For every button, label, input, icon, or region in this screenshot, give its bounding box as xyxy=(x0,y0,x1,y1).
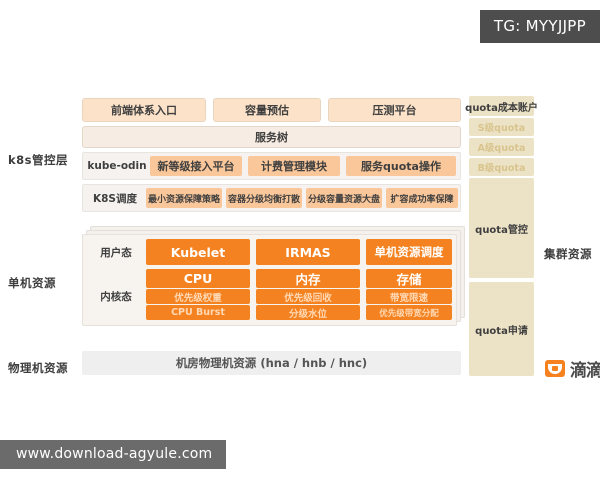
quota-apply[interactable]: quota申请 xyxy=(469,282,534,376)
box-irmas[interactable]: IRMAS xyxy=(256,239,360,265)
box-cpu-priority-weight[interactable]: 优先级权重 xyxy=(146,289,250,304)
quota-control[interactable]: quota管控 xyxy=(469,178,534,278)
screenshot-root: TG: MYYJJPP k8s管控层 单机资源 物理机资源 集群资源 前端体系入… xyxy=(0,0,600,480)
quota-level-s[interactable]: S级quota xyxy=(469,118,534,136)
box-stress-test-platform[interactable]: 压测平台 xyxy=(328,98,461,122)
label-user-mode: 用户态 xyxy=(90,239,142,265)
didi-logo-text: 滴滴 xyxy=(570,356,600,381)
box-kubelet[interactable]: Kubelet xyxy=(146,239,250,265)
box-storage-bandwidth-throttle[interactable]: 带宽限速 xyxy=(366,289,452,304)
label-kernel-mode: 内核态 xyxy=(90,271,142,321)
watermark-banner: www.download-agyule.com xyxy=(0,440,226,469)
box-service-tree[interactable]: 服务树 xyxy=(82,126,461,148)
cluster-resource-label: 集群资源 xyxy=(544,246,592,262)
box-memory-tiered-watermark[interactable]: 分级水位 xyxy=(256,305,360,320)
box-single-machine-resource-scheduling[interactable]: 单机资源调度 xyxy=(366,239,452,265)
architecture-diagram: k8s管控层 单机资源 物理机资源 集群资源 前端体系入口 容量预估 压测平台 … xyxy=(0,86,600,386)
label-kube-odin: kube-odin xyxy=(86,152,148,180)
quota-level-a[interactable]: A级quota xyxy=(469,138,534,156)
label-k8s-schedule: K8S调度 xyxy=(86,184,144,212)
box-new-level-access-platform[interactable]: 新等级接入平台 xyxy=(150,156,242,176)
box-storage-title[interactable]: 存储 xyxy=(366,269,452,288)
didi-logo: 滴滴 xyxy=(545,356,600,381)
quota-cost-account-header[interactable]: quota成本账户 xyxy=(469,96,534,116)
box-tiered-capacity-resource-dashboard[interactable]: 分级容量资源大盘 xyxy=(306,188,382,208)
layer-label-k8s-control: k8s管控层 xyxy=(8,152,68,168)
box-scale-up-success-rate-guarantee[interactable]: 扩容成功率保障 xyxy=(386,188,458,208)
box-capacity-estimate[interactable]: 容量预估 xyxy=(213,98,321,122)
box-container-tiered-balanced-spread[interactable]: 容器分级均衡打散 xyxy=(226,188,302,208)
box-memory-title[interactable]: 内存 xyxy=(256,269,360,288)
box-service-quota-operation[interactable]: 服务quota操作 xyxy=(346,156,456,176)
tg-banner: TG: MYYJJPP xyxy=(480,10,600,43)
box-storage-priority-bandwidth-allocation[interactable]: 优先级带宽分配 xyxy=(366,305,452,320)
box-memory-priority-reclaim[interactable]: 优先级回收 xyxy=(256,289,360,304)
quota-level-b[interactable]: B级quota xyxy=(469,158,534,176)
layer-label-single-machine: 单机资源 xyxy=(8,275,56,291)
box-frontend-entry[interactable]: 前端体系入口 xyxy=(82,98,206,122)
box-billing-management-module[interactable]: 计费管理模块 xyxy=(248,156,340,176)
didi-cup-icon xyxy=(545,360,565,377)
box-cpu-burst[interactable]: CPU Burst xyxy=(146,305,250,320)
box-cpu-title[interactable]: CPU xyxy=(146,269,250,288)
box-min-resource-guarantee-policy[interactable]: 最小资源保障策略 xyxy=(146,188,222,208)
layer-label-physical-machine: 物理机资源 xyxy=(8,360,68,376)
box-physical-machine-resources[interactable]: 机房物理机资源 (hna / hnb / hnc) xyxy=(82,351,461,375)
